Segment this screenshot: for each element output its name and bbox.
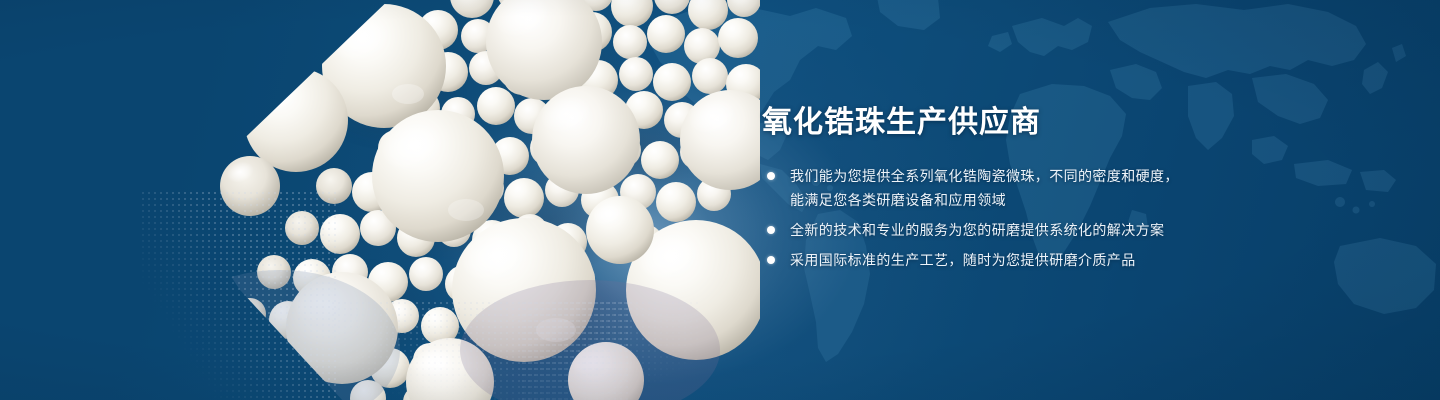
feature-bullet-list: 我们能为您提供全系列氧化锆陶瓷微珠，不同的密度和硬度， 能满足您各类研磨设备和应… — [762, 164, 1282, 272]
bullet-dot-icon — [767, 256, 775, 264]
bullet-dot-icon — [767, 172, 775, 180]
bullet-text-line2: 能满足您各类研磨设备和应用领域 — [790, 188, 1282, 212]
list-item: 全新的技术和专业的服务为您的研磨提供系统化的解决方案 — [762, 218, 1282, 242]
list-item: 采用国际标准的生产工艺，随时为您提供研磨介质产品 — [762, 248, 1282, 272]
bullet-dot-icon — [767, 226, 775, 234]
hero-banner: 氧化锆珠生产供应商 我们能为您提供全系列氧化锆陶瓷微珠，不同的密度和硬度， 能满… — [0, 0, 1440, 400]
list-item: 我们能为您提供全系列氧化锆陶瓷微珠，不同的密度和硬度， 能满足您各类研磨设备和应… — [762, 164, 1282, 212]
bullet-text-line1: 采用国际标准的生产工艺，随时为您提供研磨介质产品 — [790, 252, 1136, 268]
bullet-text-line1: 全新的技术和专业的服务为您的研磨提供系统化的解决方案 — [790, 222, 1164, 238]
banner-headline: 氧化锆珠生产供应商 — [762, 104, 1282, 142]
bullet-text-line1: 我们能为您提供全系列氧化锆陶瓷微珠，不同的密度和硬度， — [790, 168, 1179, 184]
banner-copy: 氧化锆珠生产供应商 我们能为您提供全系列氧化锆陶瓷微珠，不同的密度和硬度， 能满… — [762, 104, 1282, 278]
